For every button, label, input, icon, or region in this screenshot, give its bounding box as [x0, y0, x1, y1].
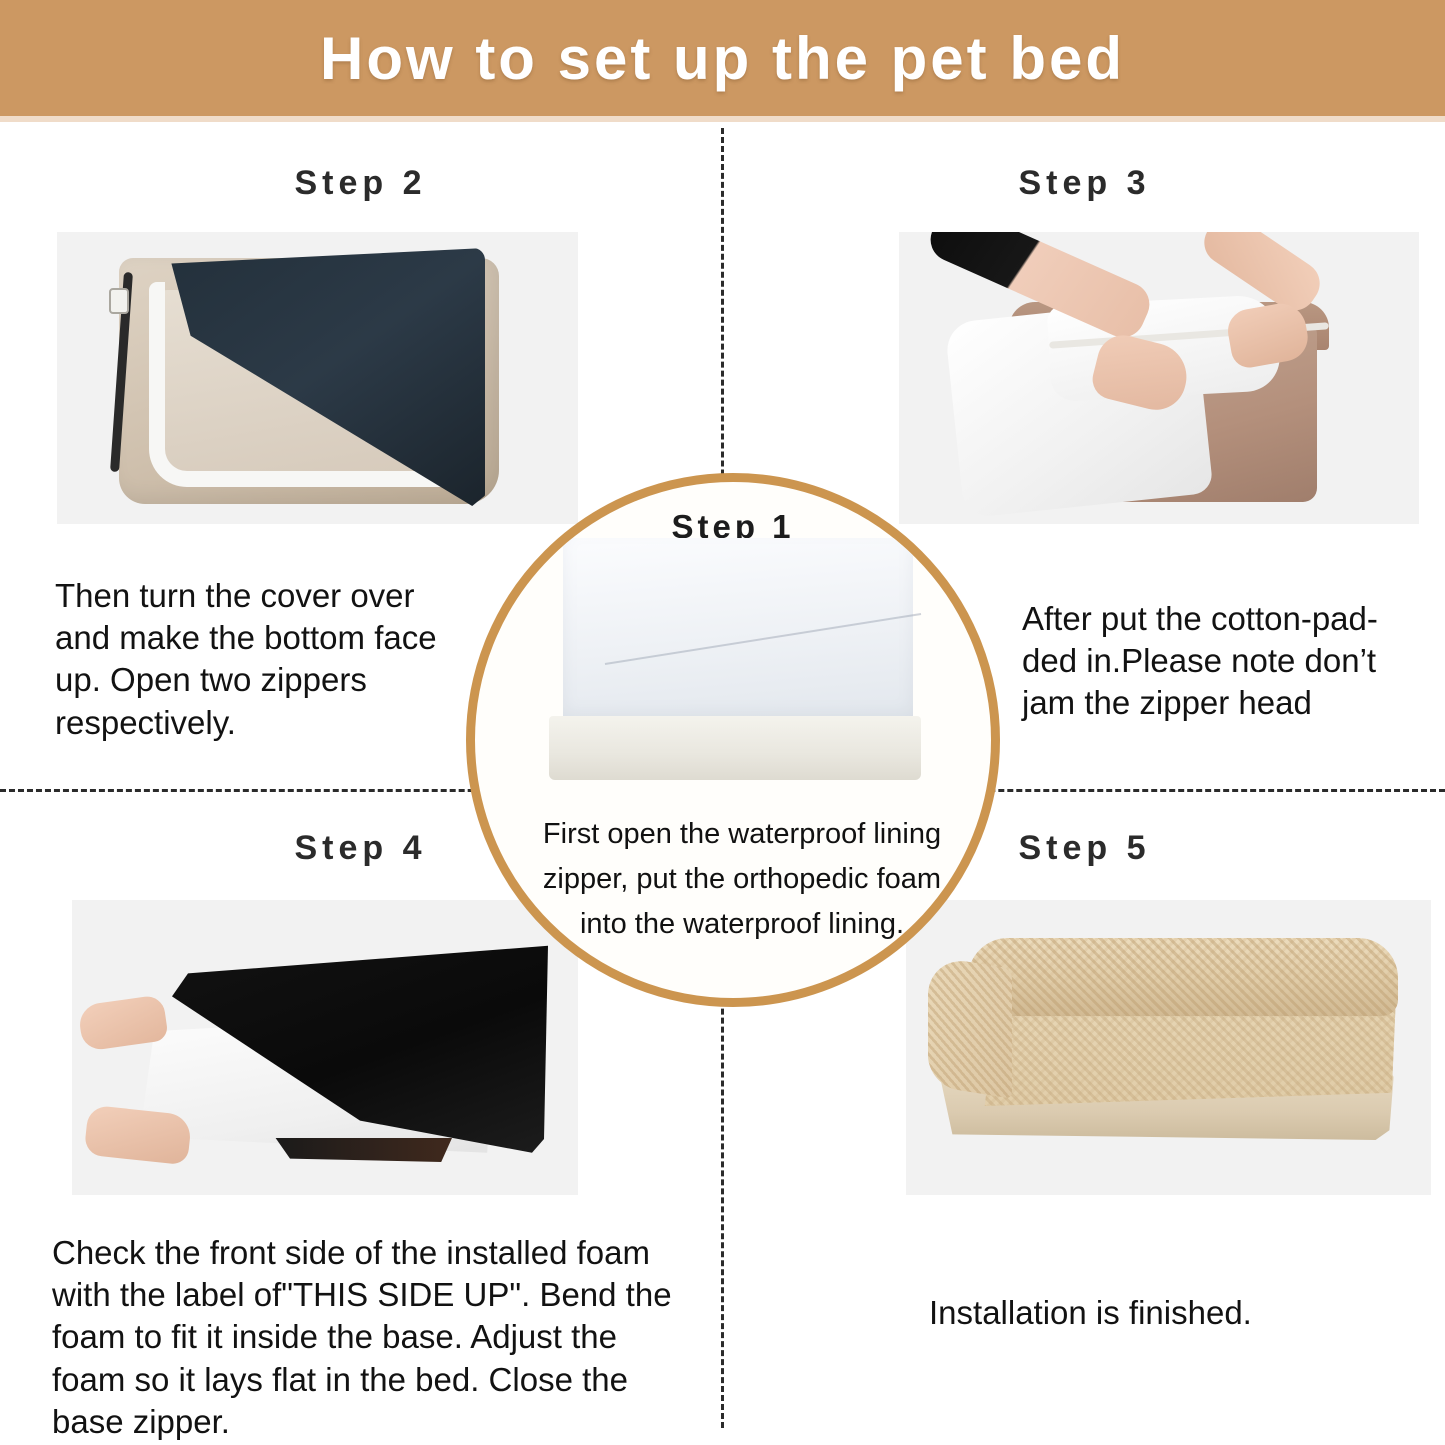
step-description-step5: Installation is finished.: [929, 1292, 1389, 1334]
lining-crease-illustration: [605, 613, 921, 665]
bed-back-bolster-illustration: [968, 938, 1398, 1016]
step-description-step1: First open the waterproof lining zipper,…: [505, 812, 979, 947]
zipper-pull-icon: [109, 288, 129, 314]
step-title-step3: Step 3: [724, 164, 1445, 203]
step-description-step4: Check the front side of the installed fo…: [52, 1232, 702, 1443]
step-photo-step2: [57, 232, 578, 524]
step-description-step3: After put the cotton-pad- ded in.Please …: [1022, 598, 1422, 725]
bed-side-bolster-illustration: [928, 955, 1012, 1098]
step-photo-step5: JOYELF: [906, 900, 1431, 1195]
cover-edge-illustration: [272, 1138, 452, 1162]
header-underline: [0, 116, 1445, 122]
step-photo-step1: [541, 530, 931, 800]
step-photo-step4: [72, 900, 578, 1195]
step-photo-step3: [899, 232, 1419, 524]
step-description-step2: Then turn the cover over and make the bo…: [55, 575, 475, 744]
header-banner: How to set up the pet bed: [0, 0, 1445, 116]
step-title-step2: Step 2: [0, 164, 721, 203]
step-panel-step1-circle: Step 1 First open the waterproof lining …: [466, 473, 1000, 1007]
waterproof-lining-illustration: [563, 538, 913, 722]
orthopedic-foam-illustration: [549, 716, 921, 780]
page-title: How to set up the pet bed: [320, 24, 1125, 93]
